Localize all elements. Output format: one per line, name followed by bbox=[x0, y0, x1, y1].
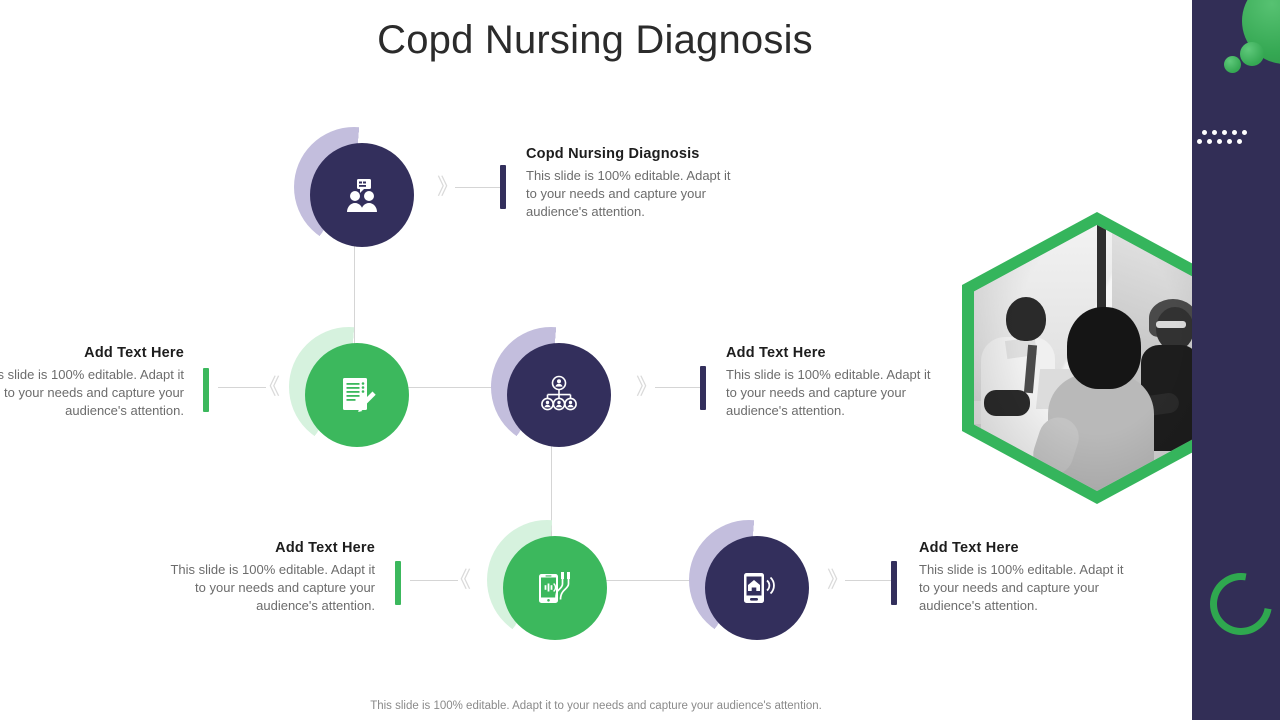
text-block-body-midright: This slide is 100% editable. Adapt it to… bbox=[726, 366, 936, 420]
org-chart-icon bbox=[536, 372, 582, 418]
dot-icon bbox=[1212, 130, 1217, 135]
leader-line-top bbox=[455, 187, 503, 188]
text-block-bottomright: Add Text Here This slide is 100% editabl… bbox=[919, 540, 1129, 615]
connector-line-bottomleft-to-bottomright bbox=[602, 580, 698, 581]
accent-bar-midleft bbox=[203, 368, 209, 412]
dot-icon bbox=[1232, 130, 1237, 135]
accent-bar-bottomright bbox=[891, 561, 897, 605]
dot-icon bbox=[1202, 130, 1207, 135]
chevron-right-icon-bottomright: 》 bbox=[827, 569, 849, 591]
accent-bar-bottomleft bbox=[395, 561, 401, 605]
chevron-right-icon-midright: 》 bbox=[636, 376, 658, 398]
node-circle-bottomleft[interactable] bbox=[495, 528, 599, 632]
phone-earphones-icon bbox=[532, 565, 578, 611]
node-circle-midright[interactable] bbox=[499, 335, 603, 439]
node-circle-top[interactable] bbox=[302, 135, 406, 239]
text-block-body-midleft: This slide is 100% editable. Adapt it to… bbox=[0, 366, 184, 420]
chevron-right-icon-top: 》 bbox=[437, 176, 459, 198]
node-disc-bottomleft bbox=[503, 536, 607, 640]
people-chat-icon bbox=[340, 173, 384, 217]
text-block-bottomleft: Add Text Here This slide is 100% editabl… bbox=[170, 540, 375, 615]
node-disc-midleft bbox=[305, 343, 409, 447]
text-block-heading-bottomleft: Add Text Here bbox=[170, 540, 375, 556]
leader-line-bottomright bbox=[845, 580, 893, 581]
green-ring-arc-icon bbox=[1198, 561, 1280, 647]
dot-icon bbox=[1222, 130, 1227, 135]
node-circle-bottomright[interactable] bbox=[697, 528, 801, 632]
text-block-midleft: Add Text Here This slide is 100% editabl… bbox=[0, 345, 184, 420]
smart-home-phone-icon bbox=[735, 566, 779, 610]
node-disc-bottomright bbox=[705, 536, 809, 640]
dot-icon bbox=[1197, 139, 1202, 144]
slide-canvas: Copd Nursing Diagnosis 》 《 》 《 》 bbox=[0, 0, 1280, 720]
text-block-heading-top: Copd Nursing Diagnosis bbox=[526, 146, 736, 162]
footer-note: This slide is 100% editable. Adapt it to… bbox=[0, 700, 1192, 712]
text-block-heading-midright: Add Text Here bbox=[726, 345, 936, 361]
text-block-body-bottomleft: This slide is 100% editable. Adapt it to… bbox=[170, 561, 375, 615]
green-circle-medium-icon bbox=[1240, 42, 1264, 66]
dot-icon bbox=[1242, 130, 1247, 135]
text-block-heading-bottomright: Add Text Here bbox=[919, 540, 1129, 556]
document-pencil-icon bbox=[334, 372, 380, 418]
text-block-body-bottomright: This slide is 100% editable. Adapt it to… bbox=[919, 561, 1129, 615]
node-circle-midleft[interactable] bbox=[297, 335, 401, 439]
accent-bar-midright bbox=[700, 366, 706, 410]
chevron-left-icon-midleft: 《 bbox=[258, 376, 280, 398]
green-circle-small-icon bbox=[1224, 56, 1241, 73]
text-block-body-top: This slide is 100% editable. Adapt it to… bbox=[526, 167, 736, 221]
node-disc-midright bbox=[507, 343, 611, 447]
text-block-top: Copd Nursing Diagnosis This slide is 100… bbox=[526, 146, 736, 221]
dot-icon bbox=[1227, 139, 1232, 144]
dot-icon bbox=[1217, 139, 1222, 144]
page-title: Copd Nursing Diagnosis bbox=[0, 18, 1190, 63]
node-disc-top bbox=[310, 143, 414, 247]
dot-icon bbox=[1207, 139, 1212, 144]
accent-bar-top bbox=[500, 165, 506, 209]
text-block-heading-midleft: Add Text Here bbox=[0, 345, 184, 361]
decorative-side-panel bbox=[1192, 0, 1280, 720]
dot-icon bbox=[1237, 139, 1242, 144]
text-block-midright: Add Text Here This slide is 100% editabl… bbox=[726, 345, 936, 420]
leader-line-midright bbox=[655, 387, 703, 388]
connector-line-midleft-to-midright bbox=[404, 387, 500, 388]
chevron-left-icon-bottomleft: 《 bbox=[449, 569, 471, 591]
dot-grid-decoration bbox=[1192, 130, 1246, 150]
